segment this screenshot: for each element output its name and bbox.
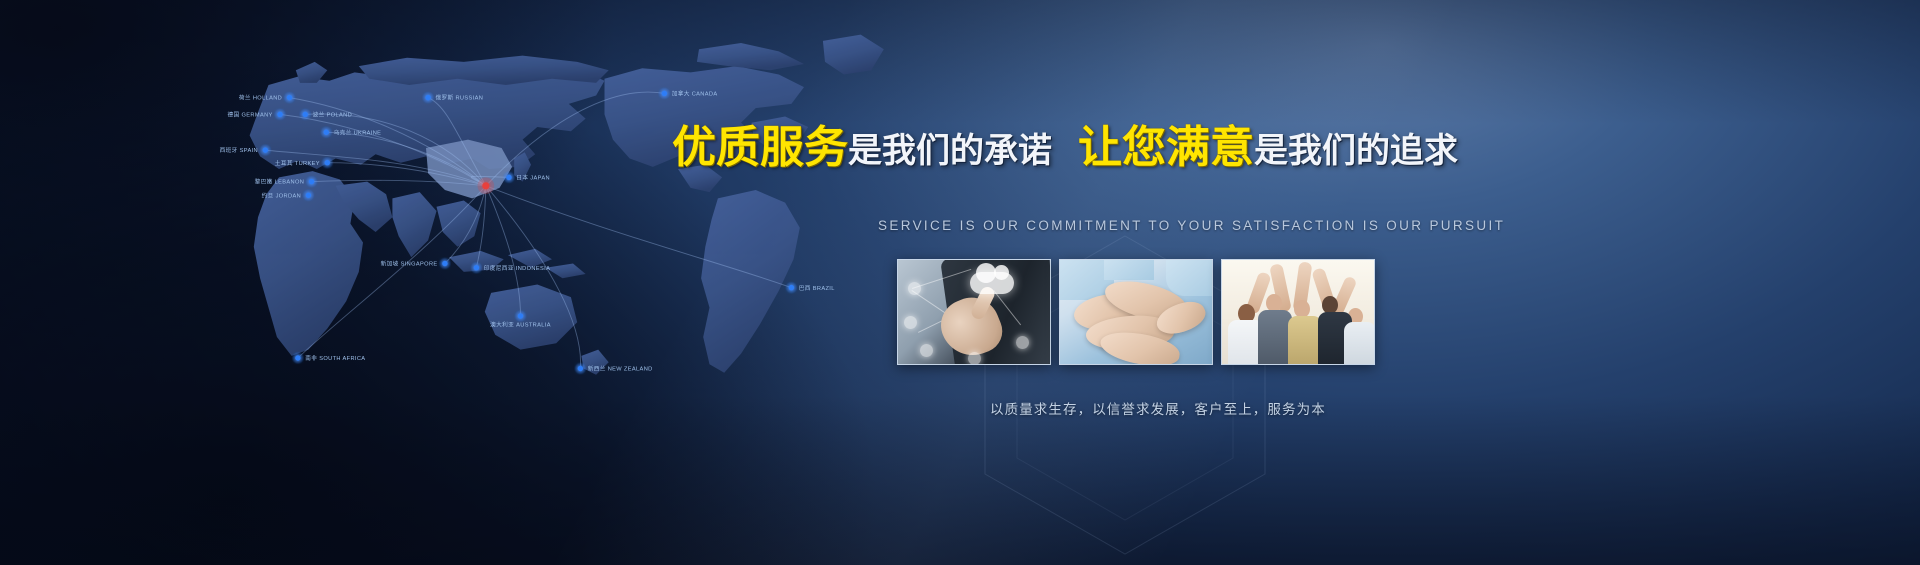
company-tagline: 以质量求生存，以信誉求发展，客户至上，服务为本 (990, 398, 1326, 418)
team-high-five-photo[interactable] (1221, 259, 1375, 365)
headline-plain-2: 是我们的追求 (1254, 132, 1458, 170)
map-label-canada: 加拿大 CANADA (672, 90, 718, 98)
map-label-japan: 日本 JAPAN (516, 174, 550, 182)
cloud-network-touch-photo[interactable] (897, 259, 1051, 365)
headline-plain-1: 是我们的承诺 (848, 132, 1052, 170)
map-dot-ukraine[interactable] (324, 130, 329, 135)
map-label-lebanon: 黎巴嫩 LEBANON (255, 178, 305, 186)
world-map: 荷兰 HOLLAND德国 GERMANY波兰 POLAND俄罗斯 RUSSIAN… (80, 22, 940, 442)
map-label-indonesia: 印度尼西亚 INDONESIA (484, 264, 550, 272)
map-dot-spain[interactable] (263, 147, 268, 152)
page-title: 优质服务是我们的承诺让您满意是我们的追求 (672, 126, 1458, 170)
map-dot-south-africa[interactable] (295, 355, 300, 360)
map-label-south-africa: 南非 SOUTH AFRICA (305, 354, 365, 362)
map-dot-indonesia[interactable] (474, 265, 479, 270)
map-label-singapore: 新加坡 SINGAPORE (381, 260, 438, 268)
map-dot-jordan[interactable] (306, 193, 311, 198)
map-label-australia: 澳大利亚 AUSTRALIA (490, 321, 551, 329)
map-dot-new-zealand[interactable] (578, 366, 583, 371)
headline-highlight-2: 让您满意 (1078, 123, 1254, 172)
headline-highlight-1: 优质服务 (672, 123, 848, 172)
map-dot-poland[interactable] (303, 112, 308, 117)
map-dot-japan[interactable] (506, 175, 511, 180)
map-dot-china[interactable] (482, 182, 489, 189)
map-dot-russian[interactable] (425, 95, 430, 100)
map-dot-holland[interactable] (287, 95, 292, 100)
map-label-brazil: 巴西 BRAZIL (799, 285, 835, 292)
map-label-russian: 俄罗斯 RUSSIAN (435, 94, 483, 102)
map-dot-lebanon[interactable] (309, 179, 314, 184)
map-label-holland: 荷兰 HOLLAND (239, 94, 282, 102)
map-landmasses (250, 35, 884, 375)
map-dot-singapore[interactable] (442, 261, 447, 266)
map-dot-turkey[interactable] (325, 160, 330, 165)
map-dot-brazil[interactable] (789, 285, 794, 290)
map-label-turkey: 土耳其 TURKEY (275, 159, 320, 167)
service-promise-banner: 荷兰 HOLLAND德国 GERMANY波兰 POLAND俄罗斯 RUSSIAN… (0, 0, 1920, 565)
map-label-poland: 波兰 POLAND (313, 111, 352, 119)
map-label-spain: 西班牙 SPAIN (220, 146, 258, 154)
stacked-hands-photo[interactable] (1059, 259, 1213, 365)
map-label-ukraine: 乌克兰 UKRAINE (334, 128, 382, 136)
map-label-new-zealand: 新西兰 NEW ZEALAND (588, 365, 653, 373)
map-label-jordan: 约旦 JORDAN (262, 191, 301, 199)
map-dot-canada[interactable] (662, 91, 667, 96)
page-subtitle: SERVICE IS OUR COMMITMENT TO YOUR SATISF… (878, 218, 1505, 233)
map-dot-germany[interactable] (277, 112, 282, 117)
map-label-germany: 德国 GERMANY (228, 111, 273, 119)
map-dot-australia[interactable] (518, 313, 523, 318)
photo-strip (897, 259, 1375, 365)
